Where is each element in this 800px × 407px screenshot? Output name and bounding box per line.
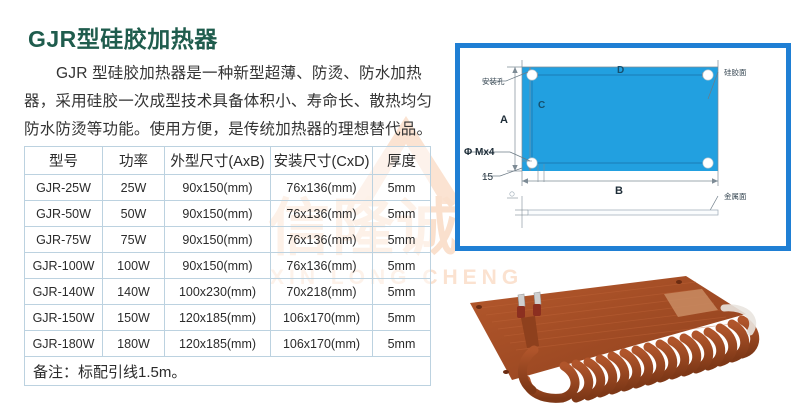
- product-spec-page: 信隆诚 XIN LONG CHENG GJR型硅胶加热器 GJR 型硅胶加热器是…: [0, 0, 800, 407]
- label-dim-c: C: [538, 100, 545, 111]
- col-header-power: 功率: [103, 147, 165, 175]
- cell-model: GJR-150W: [25, 305, 103, 331]
- table-remark: 备注：标配引线1.5m。: [25, 357, 431, 386]
- cell-outer-dim: 90x150(mm): [165, 175, 271, 201]
- label-dim-a: A: [500, 114, 508, 126]
- heater-side-view: [528, 210, 718, 215]
- pad-hole-icon: [503, 370, 509, 374]
- cell-power: 180W: [103, 331, 165, 357]
- label-silicone-face: 硅胶面: [724, 67, 747, 77]
- col-header-outer-dim: 外型尺寸(AxB): [165, 147, 271, 175]
- cell-model: GJR-50W: [25, 201, 103, 227]
- table-header-row: 型号 功率 外型尺寸(AxB) 安装尺寸(CxD) 厚度: [25, 147, 431, 175]
- label-thread: Φ Mx4: [464, 147, 495, 158]
- label-dim-d: D: [617, 65, 624, 76]
- cell-power: 75W: [103, 227, 165, 253]
- cell-mount-dim: 106x170(mm): [271, 305, 373, 331]
- cell-thickness: 5mm: [373, 331, 431, 357]
- table-row: GJR-180W 180W 120x185(mm) 106x170(mm) 5m…: [25, 331, 431, 357]
- cell-power: 25W: [103, 175, 165, 201]
- label-metal-face: 金属面: [724, 191, 747, 201]
- cell-thickness: 5mm: [373, 253, 431, 279]
- table-remark-row: 备注：标配引线1.5m。: [25, 357, 431, 386]
- cell-outer-dim: 120x185(mm): [165, 331, 271, 357]
- label-dim-b: B: [615, 185, 623, 197]
- cell-mount-dim: 76x136(mm): [271, 227, 373, 253]
- table-row: GJR-100W 100W 90x150(mm) 76x136(mm) 5mm: [25, 253, 431, 279]
- cell-model: GJR-100W: [25, 253, 103, 279]
- table-row: GJR-150W 150W 120x185(mm) 106x170(mm) 5m…: [25, 305, 431, 331]
- cell-mount-dim: 76x136(mm): [271, 201, 373, 227]
- intro-paragraph: GJR 型硅胶加热器是一种新型超薄、防烫、防水加热器，采用硅胶一次成型技术具备体…: [24, 60, 434, 144]
- cell-thickness: 5mm: [373, 227, 431, 253]
- heater-plate-top-view: [522, 67, 718, 171]
- cell-mount-dim: 70x218(mm): [271, 279, 373, 305]
- cell-mount-dim: 106x170(mm): [271, 331, 373, 357]
- cell-thickness: 5mm: [373, 201, 431, 227]
- mounting-hole-icon: [703, 70, 713, 80]
- specification-table: 型号 功率 外型尺寸(AxB) 安装尺寸(CxD) 厚度 GJR-25W 25W…: [24, 146, 431, 386]
- technical-drawing-panel: 安装孔 硅胶面 金属面 Φ Mx4 15 A B C D: [455, 43, 791, 251]
- cell-outer-dim: 90x150(mm): [165, 201, 271, 227]
- mounting-hole-icon: [703, 158, 713, 168]
- label-edge-margin: 15: [482, 172, 494, 183]
- cell-mount-dim: 76x136(mm): [271, 253, 373, 279]
- col-header-model: 型号: [25, 147, 103, 175]
- col-header-mount-dim: 安装尺寸(CxD): [271, 147, 373, 175]
- label-mounting-hole: 安装孔: [482, 76, 505, 86]
- product-photo: [446, 268, 796, 404]
- pad-hole-icon: [476, 305, 482, 309]
- cell-model: GJR-25W: [25, 175, 103, 201]
- cell-power: 150W: [103, 305, 165, 331]
- mounting-hole-icon: [527, 158, 537, 168]
- page-title: GJR型硅胶加热器: [28, 20, 218, 54]
- table-row: GJR-75W 75W 90x150(mm) 76x136(mm) 5mm: [25, 227, 431, 253]
- cell-power: 50W: [103, 201, 165, 227]
- cell-thickness: 5mm: [373, 305, 431, 331]
- col-header-thickness: 厚度: [373, 147, 431, 175]
- pad-hole-icon: [676, 280, 682, 284]
- silicone-heater-photo: [446, 268, 796, 404]
- cell-outer-dim: 100x230(mm): [165, 279, 271, 305]
- table-row: GJR-140W 140W 100x230(mm) 70x218(mm) 5mm: [25, 279, 431, 305]
- cell-outer-dim: 90x150(mm): [165, 227, 271, 253]
- left-column: GJR型硅胶加热器 GJR 型硅胶加热器是一种新型超薄、防烫、防水加热器，采用硅…: [0, 0, 450, 407]
- cell-outer-dim: 120x185(mm): [165, 305, 271, 331]
- cell-thickness: 5mm: [373, 175, 431, 201]
- cell-power: 140W: [103, 279, 165, 305]
- cell-power: 100W: [103, 253, 165, 279]
- cell-model: GJR-180W: [25, 331, 103, 357]
- cell-model: GJR-140W: [25, 279, 103, 305]
- cell-thickness: 5mm: [373, 279, 431, 305]
- cell-mount-dim: 76x136(mm): [271, 175, 373, 201]
- technical-drawing: 安装孔 硅胶面 金属面 Φ Mx4 15 A B C D: [460, 48, 786, 246]
- table-row: GJR-50W 50W 90x150(mm) 76x136(mm) 5mm: [25, 201, 431, 227]
- table-row: GJR-25W 25W 90x150(mm) 76x136(mm) 5mm: [25, 175, 431, 201]
- cell-model: GJR-75W: [25, 227, 103, 253]
- mounting-hole-icon: [527, 70, 537, 80]
- cell-outer-dim: 90x150(mm): [165, 253, 271, 279]
